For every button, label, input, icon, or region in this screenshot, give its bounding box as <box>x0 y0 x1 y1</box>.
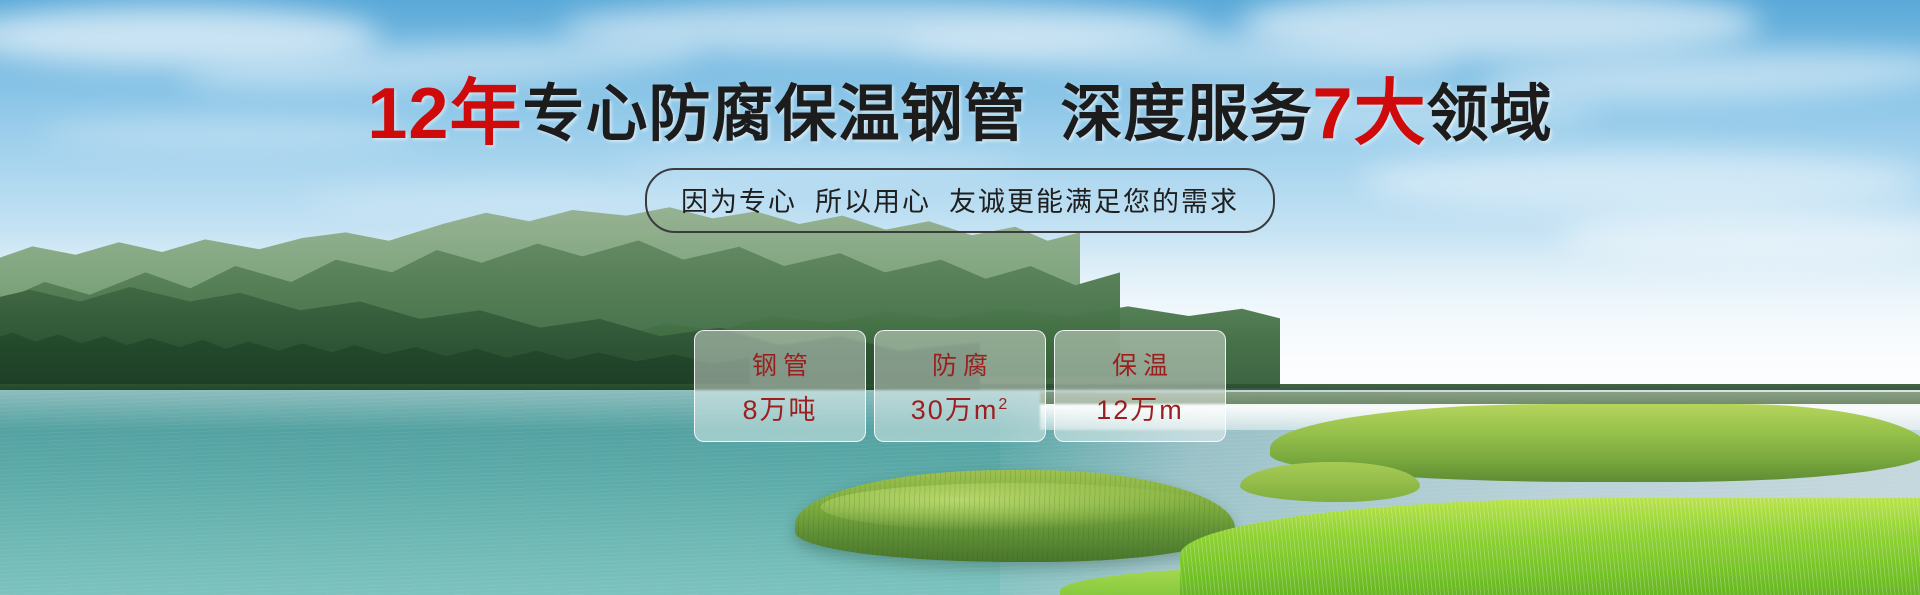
headline-years: 12 <box>367 74 449 154</box>
stat-card-value: 12万m <box>1096 388 1184 427</box>
stat-card-value: 8万吨 <box>742 388 817 427</box>
stat-card-value-text: 30万m <box>911 395 999 425</box>
headline-fields: 领域 <box>1427 80 1553 149</box>
headline: 12年专心防腐保温钢管深度服务7大领域 <box>0 78 1920 150</box>
stat-card-anticorrosion: 防腐 30万m2 <box>874 330 1046 442</box>
headline-main: 专心防腐保温钢管 <box>523 80 1027 149</box>
stat-card-value-text: 12万m <box>1096 395 1184 425</box>
stat-card-steel-pipe: 钢管 8万吨 <box>694 330 866 442</box>
banner-content: 12年专心防腐保温钢管深度服务7大领域 因为专心所以用心友诚更能满足您的需求 钢… <box>0 0 1920 595</box>
headline-year-unit: 年 <box>449 74 522 154</box>
stat-card-value: 30万m2 <box>911 388 1009 427</box>
subtitle-part-1: 因为专心 <box>681 187 797 217</box>
stat-card-label: 保温 <box>1106 346 1174 382</box>
stat-card-label: 防腐 <box>926 346 994 382</box>
stat-card-label: 钢管 <box>746 346 814 382</box>
stat-cards: 钢管 8万吨 防腐 30万m2 保温 12万m <box>0 330 1920 442</box>
stat-card-insulation: 保温 12万m <box>1054 330 1226 442</box>
stat-card-value-sup: 2 <box>998 396 1009 413</box>
subtitle-container: 因为专心所以用心友诚更能满足您的需求 <box>0 168 1920 233</box>
stat-card-value-text: 8万吨 <box>742 395 817 425</box>
promo-banner: 12年专心防腐保温钢管深度服务7大领域 因为专心所以用心友诚更能满足您的需求 钢… <box>0 0 1920 595</box>
headline-count: 7 <box>1313 74 1354 154</box>
subtitle-part-3: 友诚更能满足您的需求 <box>949 187 1239 217</box>
subtitle-pill: 因为专心所以用心友诚更能满足您的需求 <box>645 168 1275 233</box>
subtitle-part-2: 所以用心 <box>815 187 931 217</box>
headline-count-unit: 大 <box>1354 74 1427 154</box>
headline-service: 深度服务 <box>1061 80 1313 149</box>
